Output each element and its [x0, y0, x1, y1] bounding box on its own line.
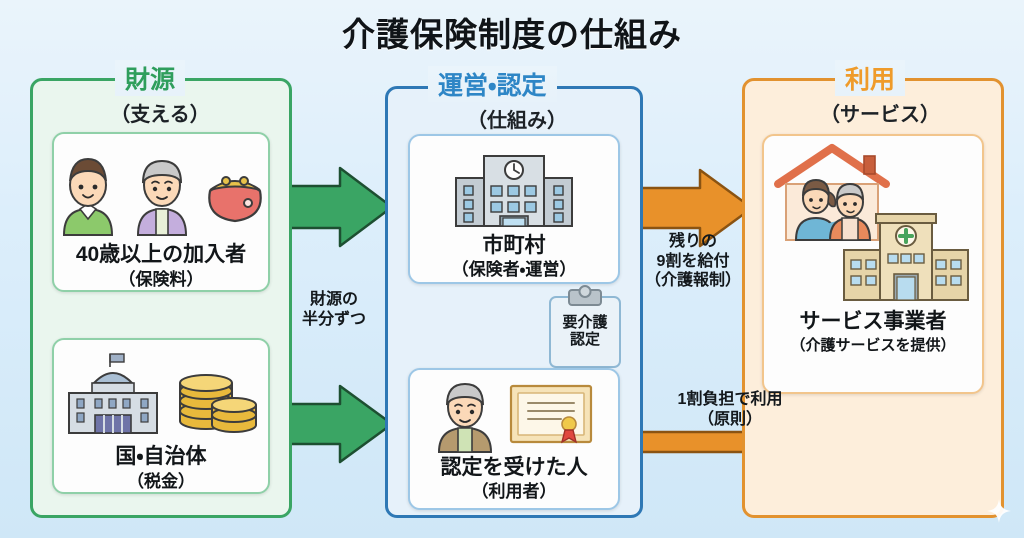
- section-title-use: 利用: [835, 60, 905, 96]
- section-subtitle-use: （サービス）: [805, 98, 955, 127]
- arrow-label-half-funding-line2: 半分ずつ: [288, 310, 380, 330]
- card-government-subtitle: （税金）: [127, 472, 195, 492]
- coin-purse-icon: [204, 167, 266, 225]
- card-insured-persons[interactable]: 40歳以上の加入者 （保険料）: [52, 132, 270, 292]
- care-facility-icon: [842, 210, 970, 304]
- elderly-person-icon: [435, 378, 495, 454]
- sparkle-icon: [986, 498, 1012, 524]
- card-certified-person-subtitle: （利用者）: [472, 482, 557, 502]
- card-certified-person-title: 認定を受けた人: [441, 456, 588, 479]
- city-hall-building-icon: [453, 148, 575, 230]
- coin-stack-icon: [178, 359, 258, 435]
- arrow-label-benefit: 残りの 9割を給付 （介護報制）: [638, 232, 748, 291]
- card-government[interactable]: 国・自治体 （税金）: [52, 338, 270, 494]
- government-artwork: [64, 340, 258, 435]
- arrow-insured-to-city: [276, 168, 392, 246]
- card-insured-subtitle: （保険料）: [119, 270, 204, 290]
- card-municipality-subtitle: （保険者・運営）: [452, 260, 577, 280]
- municipality-artwork: [453, 136, 575, 230]
- government-building-icon: [64, 353, 162, 435]
- card-service-provider[interactable]: サービス事業者 （介護サービスを提供）: [762, 134, 984, 394]
- certification-badge-line1: 要介護: [562, 315, 607, 332]
- card-municipality-title: 市町村: [483, 234, 546, 257]
- section-subtitle-admin: （仕組み）: [452, 104, 582, 133]
- card-insured-title: 40歳以上の加入者: [76, 243, 246, 266]
- arrow-label-half-funding: 財源の 半分ずつ: [288, 290, 380, 329]
- section-title-finance: 財源: [115, 60, 185, 96]
- card-government-title: 国・自治体: [115, 445, 206, 468]
- certification-badge[interactable]: 要介護 認定: [549, 296, 621, 368]
- card-certified-person[interactable]: 認定を受けた人 （利用者）: [408, 368, 620, 510]
- card-service-provider-subtitle: （介護サービスを提供）: [790, 337, 955, 354]
- arrow-label-copayment-line2: （原則）: [650, 410, 810, 430]
- service-provider-artwork: [764, 136, 982, 308]
- certification-badge-line2: 認定: [570, 332, 600, 349]
- diagram-canvas: 介護保険制度の仕組み 財源 （支える）: [0, 0, 1024, 538]
- card-municipality[interactable]: 市町村 （保険者・運営）: [408, 134, 620, 284]
- certified-person-artwork: [435, 370, 593, 454]
- arrow-label-copayment-line1: 1割負担で利用: [650, 390, 810, 410]
- arrow-label-copayment: 1割負担で利用 （原則）: [650, 390, 810, 429]
- arrow-gov-to-city: [276, 386, 392, 462]
- section-subtitle-finance: （支える）: [95, 98, 225, 127]
- card-service-provider-title: サービス事業者: [800, 310, 947, 333]
- section-title-admin: 運営・認定: [428, 66, 557, 102]
- certificate-icon: [509, 382, 593, 448]
- elderly-person-icon: [130, 153, 194, 237]
- insured-artwork: [56, 134, 266, 237]
- adult-person-icon: [56, 153, 120, 237]
- clipboard-clip-icon: [568, 289, 602, 306]
- arrow-label-benefit-line2: 9割を給付: [638, 252, 748, 272]
- arrow-label-benefit-line3: （介護報制）: [638, 271, 748, 291]
- arrow-label-half-funding-line1: 財源の: [288, 290, 380, 310]
- arrow-label-benefit-line1: 残りの: [638, 232, 748, 252]
